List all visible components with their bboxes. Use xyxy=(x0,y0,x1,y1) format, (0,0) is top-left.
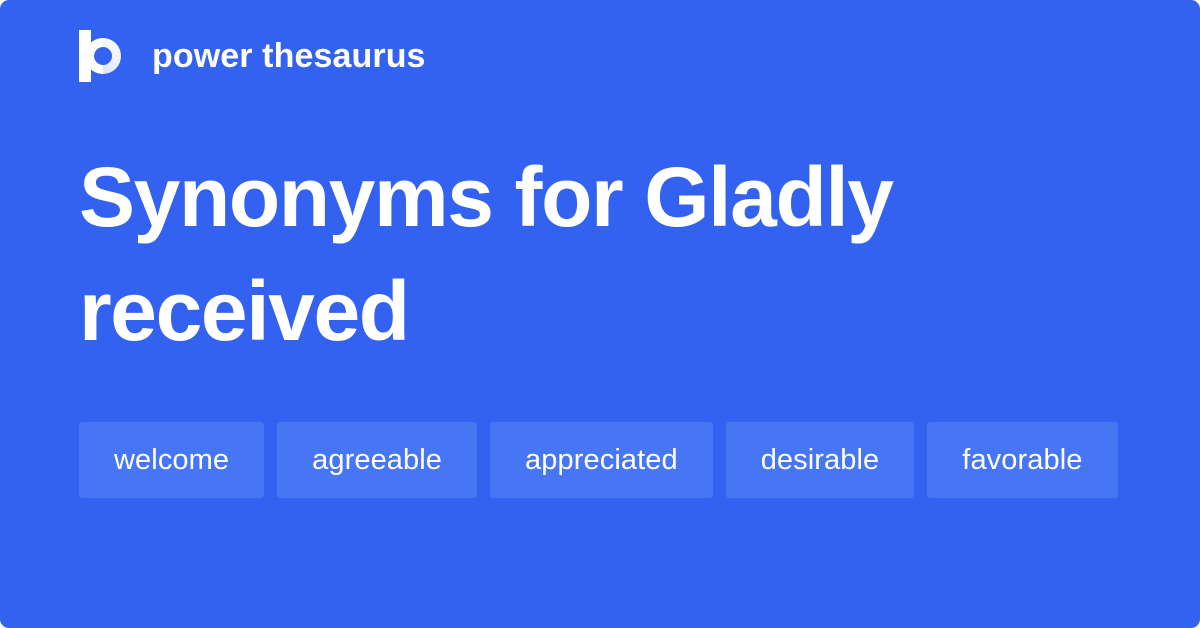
synonym-chip[interactable]: welcome xyxy=(79,422,264,498)
synonym-chip[interactable]: desirable xyxy=(726,422,915,498)
synonym-chip[interactable]: appreciated xyxy=(490,422,713,498)
brand-name: Power Thesaurus xyxy=(152,30,426,82)
page-title: Synonyms for Gladly received xyxy=(79,140,1089,368)
power-thesaurus-b-logo-icon xyxy=(79,30,129,82)
og-card: Power Thesaurus Synonyms for Gladly rece… xyxy=(0,0,1200,628)
brand-header[interactable]: Power Thesaurus xyxy=(79,30,426,82)
synonym-chip[interactable]: agreeable xyxy=(277,422,477,498)
synonym-chip-list: welcome agreeable appreciated desirable … xyxy=(79,422,1129,498)
synonym-chip[interactable]: favorable xyxy=(927,422,1117,498)
